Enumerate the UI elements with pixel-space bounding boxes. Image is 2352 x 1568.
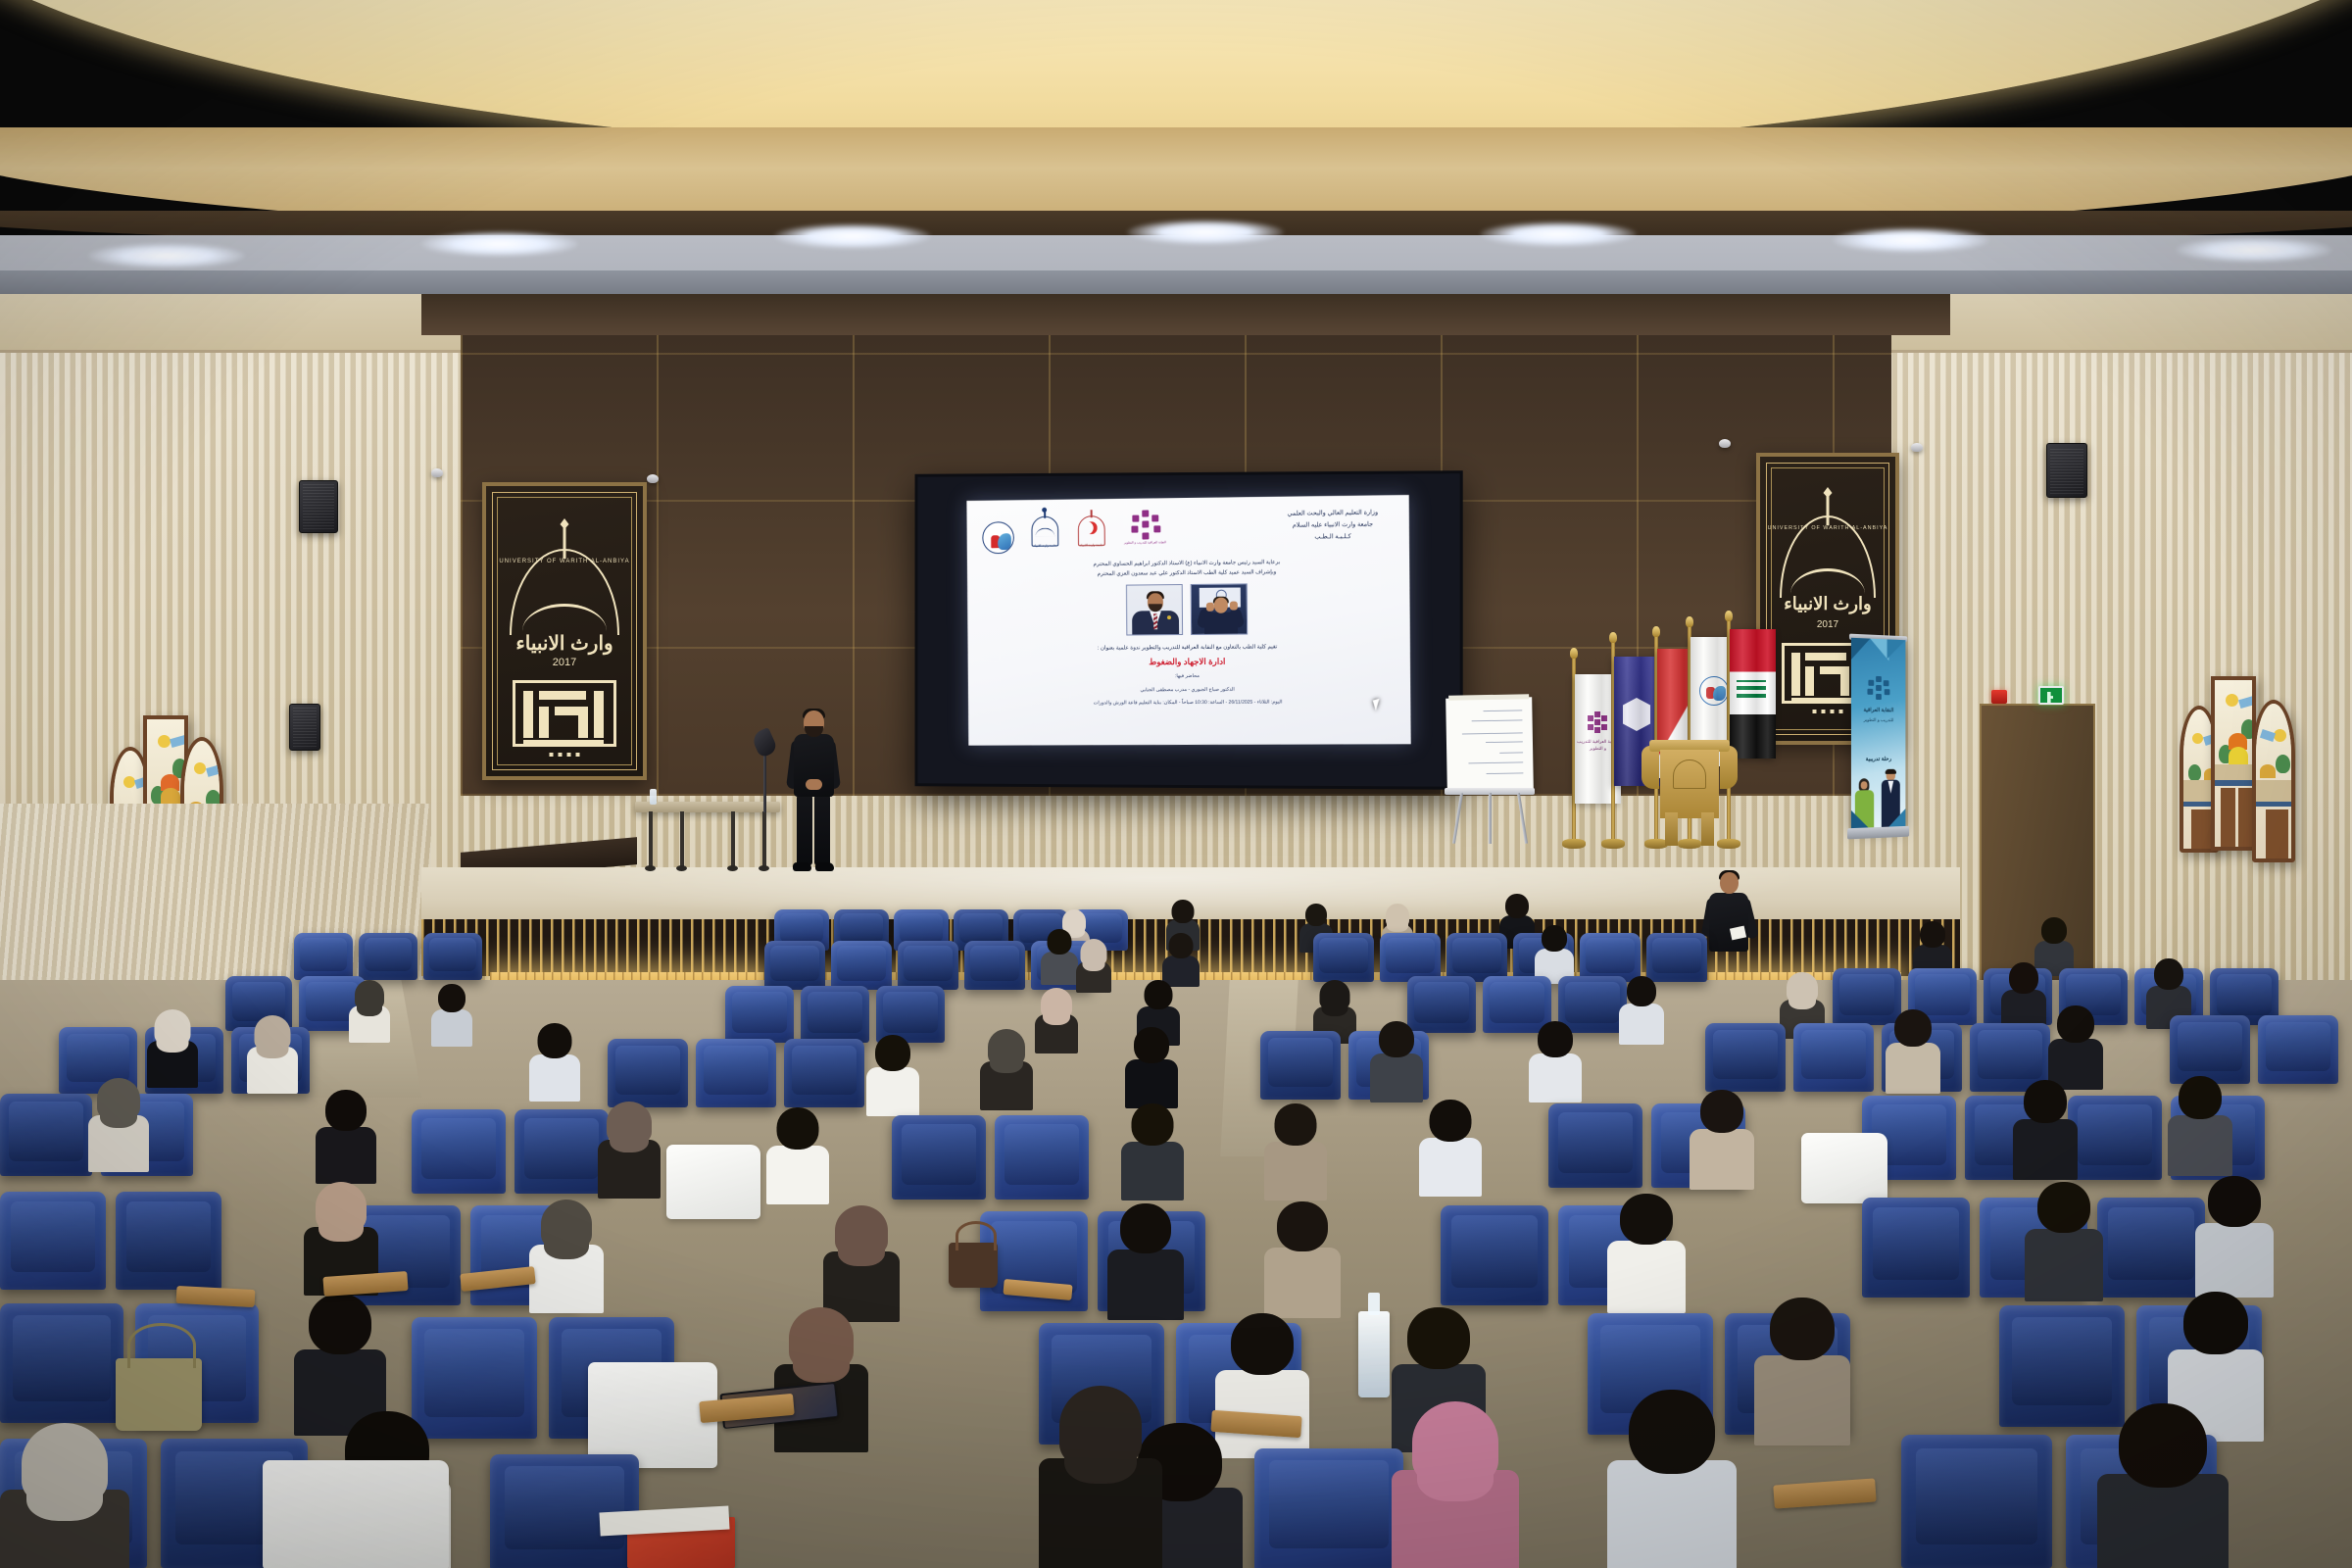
ceiling (0, 0, 2352, 294)
slide-title: ادارة الاجهاد والضغوط (979, 656, 1397, 669)
seat[interactable] (412, 1109, 506, 1194)
seat[interactable] (359, 933, 417, 980)
audience-person (766, 1107, 829, 1201)
water-cup-on-table (650, 789, 657, 805)
wall-art-panel (2252, 700, 2295, 862)
audience-person-hijab (1035, 988, 1078, 1053)
podium-leg (1665, 812, 1678, 846)
slide-speaker-label: محاضر فيها: (980, 671, 1398, 683)
wall-emblem-panel-left: UNIVERSITY OF WARITH AL-ANBIYA وارث الان… (482, 482, 647, 780)
emblem-arabic-text: وارث الانبياء (1784, 594, 1871, 614)
white-coat-on-seat (263, 1460, 449, 1568)
handbag-on-seat (949, 1243, 998, 1288)
seat[interactable] (784, 1039, 864, 1107)
seat[interactable] (696, 1039, 776, 1107)
wall-art-panel (2211, 676, 2256, 851)
speaker-podium (1649, 740, 1730, 846)
audience-person (2048, 1005, 2103, 1088)
ceiling-downlight (774, 223, 931, 249)
flag-iraq (1730, 629, 1776, 759)
audience-person (529, 1023, 580, 1100)
aiit-logo (978, 521, 1017, 555)
table-leg (731, 811, 735, 868)
audience-person-hijab (774, 1307, 868, 1448)
audience-person-hijab (1076, 939, 1111, 992)
handbag-on-seat (116, 1358, 202, 1431)
seat[interactable] (0, 1303, 123, 1423)
seat-row (0, 1192, 221, 1290)
projection-screen[interactable]: جامعة وارث الانبياء جامعة وارث الانبياء (915, 470, 1463, 790)
seat[interactable] (2068, 1096, 2162, 1180)
photo-speaker-presenting (1191, 583, 1248, 635)
seat[interactable] (964, 941, 1025, 990)
audience-person (1264, 1201, 1341, 1315)
audience-person (2195, 1176, 2274, 1296)
audience-person (1125, 1027, 1178, 1105)
security-camera (1719, 439, 1731, 448)
audience-person (431, 984, 472, 1045)
audience-person-hijab (349, 980, 390, 1041)
seat[interactable] (1260, 1031, 1341, 1100)
white-coat-on-seat (588, 1362, 717, 1468)
podium-side-wing (1641, 746, 1659, 789)
seat[interactable] (0, 1192, 106, 1290)
emblem-square-row (1813, 710, 1843, 713)
table-leg (762, 811, 766, 868)
rollup-graphic: النقابة العراقية للتدريب و التطوير رحلة … (1851, 638, 1905, 828)
seat[interactable] (1901, 1435, 2052, 1568)
audience-person (1419, 1100, 1482, 1194)
seat[interactable] (116, 1192, 221, 1290)
person-standing-aisle (1705, 872, 1752, 980)
slide-logo-row: جامعة وارث الانبياء جامعة وارث الانبياء (978, 507, 1270, 555)
seat-row (1705, 1023, 2050, 1092)
audience-person (1607, 1390, 1737, 1568)
wall-speaker-left2 (289, 704, 320, 751)
ministry-line-1: وزارة التعليم العالي والبحث العلمي (1268, 507, 1396, 520)
syndicate-star-logo (1867, 676, 1889, 701)
flipchart-leg (1452, 793, 1463, 844)
seat[interactable] (1548, 1103, 1642, 1188)
portrait-photo-dean (1126, 584, 1183, 635)
emblem-kufic-block (513, 680, 616, 747)
audience-person (316, 1090, 376, 1182)
seat[interactable] (831, 941, 892, 990)
audience-person (1041, 929, 1078, 984)
seat[interactable] (1580, 933, 1641, 982)
seat[interactable] (1705, 1023, 1786, 1092)
audience-person (1619, 976, 1664, 1043)
rollup-line-2: للتدريب و التطوير (1851, 717, 1905, 723)
slide-speaker-name: الدكتور صباح الجبوري - مدرب مصطفى الجناب… (980, 685, 1398, 697)
presenter-on-stage (790, 710, 837, 877)
audience-person (866, 1035, 919, 1113)
seat[interactable] (0, 1094, 92, 1176)
audience-person (1264, 1103, 1327, 1198)
seat[interactable] (1646, 933, 1707, 982)
flipchart-leg (1489, 793, 1492, 844)
rollup-line-1: النقابة العراقية (1851, 708, 1905, 714)
audience-person (1529, 1021, 1582, 1100)
mic-head (751, 727, 779, 759)
audience-person (2001, 962, 2046, 1031)
audience-person (2025, 1182, 2103, 1299)
auditorium-photo: UNIVERSITY OF WARITH AL-ANBIYA وارث الان… (0, 0, 2352, 1568)
warith-al-anbiya-university-logo: جامعة وارث الانبياء (1026, 512, 1063, 555)
seat[interactable] (2170, 1015, 2250, 1084)
seat-row (294, 933, 482, 980)
podium-leg (1701, 812, 1714, 846)
red-crescent-logo: جامعة وارث الانبياء (1073, 511, 1110, 554)
seat[interactable] (1862, 1198, 1970, 1298)
seat[interactable] (2097, 1198, 2205, 1298)
security-camera (1911, 443, 1923, 452)
seat-row (1254, 1448, 1403, 1568)
white-coat-on-seat (666, 1145, 760, 1219)
microphone-stand (755, 730, 776, 814)
audience-person-hijab (147, 1009, 198, 1086)
seat[interactable] (2258, 1015, 2338, 1084)
seat[interactable] (514, 1109, 609, 1194)
slide-header-block: وزارة التعليم العالي والبحث العلمي جامعة… (1268, 507, 1397, 543)
emblem-square-row (550, 753, 580, 757)
wall-speaker-right (2046, 443, 2087, 498)
audience-person (2097, 1403, 2229, 1568)
iraqi-training-syndicate-logo: النقابة العراقية للتدريب و التطوير (1119, 508, 1170, 554)
slide-body-line-1: تقيم كلية الطب بالتعاون مع النقابة العرا… (979, 641, 1397, 654)
emblem-year: 2017 (1817, 619, 1838, 630)
audience-person-hijab (598, 1102, 661, 1196)
rollup-base (1847, 826, 1909, 840)
seat[interactable] (1380, 933, 1441, 982)
security-camera (647, 474, 659, 483)
seat-row (608, 1039, 864, 1107)
logo-caption: جامعة وارث الانبياء (1027, 543, 1064, 547)
presentation-slide: جامعة وارث الانبياء جامعة وارث الانبياء (966, 495, 1410, 746)
table-leg (680, 811, 684, 868)
seat[interactable] (1446, 933, 1507, 982)
seat[interactable] (1441, 1205, 1548, 1305)
audience-person (1535, 925, 1574, 982)
seat[interactable] (1254, 1448, 1403, 1568)
slide-patron-block: برعاية السيد رئيس جامعة وارث الانبياء (ع… (981, 557, 1396, 581)
white-coat-on-seat (1801, 1133, 1887, 1203)
seat[interactable] (725, 986, 794, 1043)
audience-person-hijab (980, 1029, 1033, 1107)
ceiling-downlight (1833, 227, 1989, 253)
podium-side-wing (1720, 746, 1738, 789)
seat[interactable] (995, 1115, 1089, 1200)
ceiling-downlight (1480, 221, 1637, 247)
seat-row (1407, 976, 1627, 1033)
audience-person-hijab (0, 1423, 129, 1568)
audience-person-hijab (1039, 1386, 1162, 1568)
audience-person (1107, 1203, 1184, 1317)
fire-alarm-icon[interactable] (1991, 690, 2007, 704)
security-camera (431, 468, 443, 477)
ceiling-downlight (88, 243, 245, 269)
audience-person (1754, 1298, 1850, 1443)
audience-person-hijab (823, 1205, 900, 1319)
exit-sign-icon (2038, 686, 2064, 705)
audience-person-hijab (529, 1200, 604, 1311)
slide-photo-row (967, 582, 1410, 640)
audience-person (1607, 1194, 1686, 1311)
table-leg (649, 811, 653, 868)
seat-row (1313, 933, 1707, 982)
seat[interactable] (423, 933, 482, 980)
seat[interactable] (294, 933, 353, 980)
slide-event-meta: اليوم: الثلاثاء - 26/11/2025 - الساعة: 1… (980, 697, 1398, 708)
audience-person-hijab (247, 1015, 298, 1092)
training-syndicate-rollup-banner: النقابة العراقية للتدريب و التطوير رحلة … (1847, 634, 1909, 845)
seat[interactable] (1793, 1023, 1874, 1092)
water-bottle (1358, 1311, 1390, 1397)
emblem-latin-text: UNIVERSITY OF WARITH AL-ANBIYA (499, 559, 629, 564)
seat-row (412, 1109, 609, 1194)
mic-pole (763, 748, 766, 812)
emblem-arabic-text: وارث الانبياء (515, 631, 612, 656)
audience-person (1370, 1021, 1423, 1100)
wall-speaker-left (299, 480, 338, 533)
audience-person (1162, 933, 1200, 986)
ceiling-downlight (421, 231, 578, 257)
seat[interactable] (892, 1115, 986, 1200)
ceiling-downlight (1127, 220, 1284, 245)
audience-person (2168, 1076, 2232, 1174)
seat-row (2170, 1015, 2338, 1084)
seat[interactable] (764, 941, 825, 990)
ministry-line-3: كـلـيـة الـطـب (1268, 530, 1396, 543)
flipchart-paper-pad (1445, 697, 1534, 791)
seat-row (892, 1115, 1089, 1200)
ceiling-downlight (2176, 237, 2332, 263)
rollup-line-3: رحلة تدريبية (1851, 757, 1905, 763)
audience-person (1121, 1103, 1184, 1198)
wall-soffit-dark-reveal (421, 294, 1950, 335)
seat[interactable] (608, 1039, 688, 1107)
logo-caption: جامعة وارث الانبياء (1073, 543, 1110, 547)
audience-person (1690, 1090, 1754, 1188)
seat[interactable] (1313, 933, 1374, 982)
audience-person-hijab (88, 1078, 149, 1170)
seat[interactable] (801, 986, 869, 1043)
podium-crest (1673, 759, 1706, 789)
flipchart-easel[interactable] (1443, 698, 1539, 845)
seat[interactable] (898, 941, 958, 990)
audience-person (2013, 1080, 2078, 1178)
logo-caption: النقابة العراقية للتدريب و التطوير (1120, 540, 1171, 545)
audience-person-hijab (1392, 1401, 1519, 1568)
flipchart-leg (1517, 793, 1528, 844)
emblem-year: 2017 (553, 657, 576, 668)
slide-body-block: تقيم كلية الطب بالتعاون مع النقابة العرا… (979, 641, 1398, 708)
audience-person (1886, 1009, 1940, 1092)
emblem-latin-text: UNIVERSITY OF WARITH AL-ANBIYA (1768, 525, 1888, 531)
